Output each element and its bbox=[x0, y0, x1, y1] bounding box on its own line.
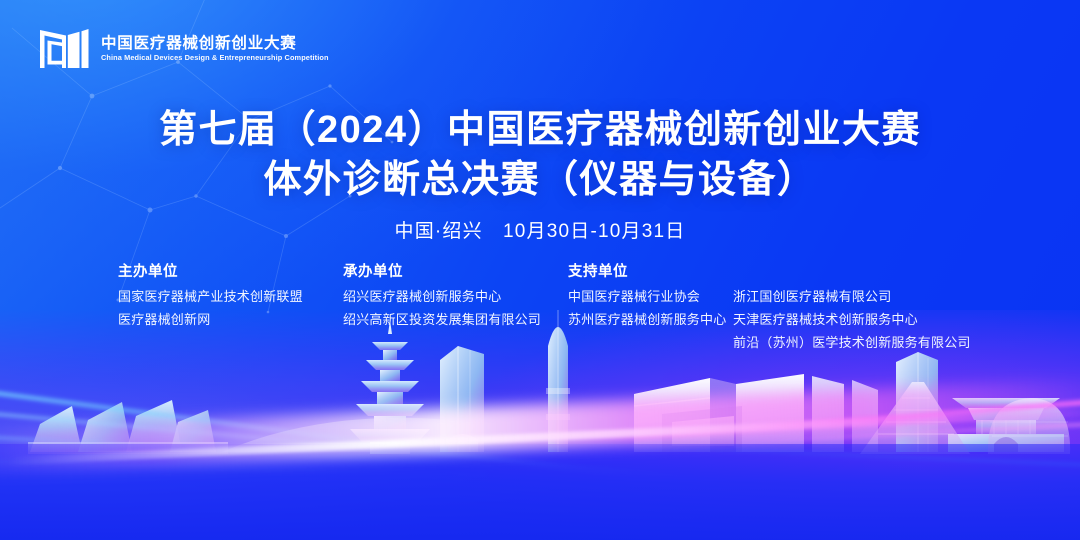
brand-name-en: China Medical Devices Design & Entrepren… bbox=[101, 54, 329, 62]
brand-name-cn: 中国医疗器械创新创业大赛 bbox=[101, 36, 336, 52]
brand-logo-text: 中国医疗器械创新创业大赛 China Medical Devices Desig… bbox=[101, 36, 336, 61]
organizer-column-header: 承办单位 bbox=[343, 265, 568, 280]
organizer-column-host: 主办单位 国家医疗器械产业技术创新联盟 医疗器械创新网 bbox=[118, 265, 343, 336]
organizer-item: 天津医疗器械技术创新服务中心 bbox=[733, 313, 998, 326]
organizer-item: 苏州医疗器械创新服务中心 bbox=[568, 313, 733, 326]
page-title-line1: 第七届（2024）中国医疗器械创新创业大赛 bbox=[0, 108, 1080, 154]
organizer-column-supporter-extra: 浙江国创医疗器械有限公司 天津医疗器械技术创新服务中心 前沿（苏州）医学技术创新… bbox=[733, 265, 998, 359]
organizer-item: 绍兴高新区投资发展集团有限公司 bbox=[343, 313, 568, 326]
organizer-column-supporter: 支持单位 中国医疗器械行业协会 苏州医疗器械创新服务中心 bbox=[568, 265, 733, 336]
organizer-item: 浙江国创医疗器械有限公司 bbox=[733, 290, 998, 303]
organizer-item: 绍兴医疗器械创新服务中心 bbox=[343, 290, 568, 303]
organizer-item: 国家医疗器械产业技术创新联盟 bbox=[118, 290, 343, 303]
organizers-block: 主办单位 国家医疗器械产业技术创新联盟 医疗器械创新网 承办单位 绍兴医疗器械创… bbox=[118, 265, 998, 359]
page-title-line2: 体外诊断总决赛（仪器与设备） bbox=[0, 158, 1080, 204]
organizer-column-header: 支持单位 bbox=[568, 265, 733, 280]
title-block: 第七届（2024）中国医疗器械创新创业大赛 体外诊断总决赛（仪器与设备） bbox=[0, 108, 1080, 203]
brand-logo: 中国医疗器械创新创业大赛 China Medical Devices Desig… bbox=[38, 24, 336, 74]
event-banner: 中国医疗器械创新创业大赛 China Medical Devices Desig… bbox=[0, 0, 1080, 540]
open-book-logo-icon bbox=[38, 24, 90, 74]
organizer-column-organizer: 承办单位 绍兴医疗器械创新服务中心 绍兴高新区投资发展集团有限公司 bbox=[343, 265, 568, 336]
organizer-item: 医疗器械创新网 bbox=[118, 313, 343, 326]
organizer-item: 中国医疗器械行业协会 bbox=[568, 290, 733, 303]
organizer-column-header: 主办单位 bbox=[118, 265, 343, 280]
event-location-date: 中国·绍兴 10月30日-10月31日 bbox=[0, 216, 1080, 243]
organizer-item: 前沿（苏州）医学技术创新服务有限公司 bbox=[733, 336, 998, 349]
